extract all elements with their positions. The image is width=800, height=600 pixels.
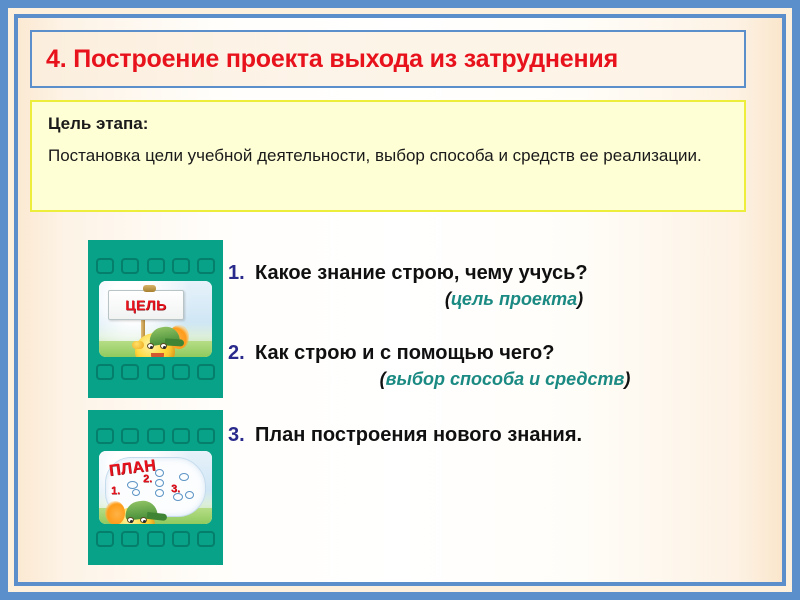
title-box: 4. Построение проекта выхода из затрудне…	[30, 30, 746, 88]
goal-illustration: ЦЕЛЬ	[99, 281, 212, 357]
filmstrip-sprockets-bottom	[96, 529, 215, 549]
list-item-subtext-emphasis: цель проекта	[451, 289, 577, 309]
sprocket-hole-icon	[172, 364, 190, 380]
question-list: 1. Какое знание строю, чему учусь? (цель…	[228, 262, 738, 451]
sprocket-hole-icon	[121, 364, 139, 380]
plan-illustration: ПЛАН 1. 2. 3.	[99, 451, 212, 524]
sprocket-hole-icon	[96, 364, 114, 380]
paren-close: )	[624, 369, 630, 389]
sprocket-hole-icon	[197, 258, 215, 274]
list-spacer	[228, 394, 738, 424]
sprocket-hole-icon	[147, 258, 165, 274]
sprocket-hole-icon	[172, 531, 190, 547]
goal-sign: ЦЕЛЬ	[108, 290, 184, 320]
plan-filmstrip-card: ПЛАН 1. 2. 3.	[88, 410, 223, 565]
character-cap-brim	[165, 338, 184, 346]
sprocket-hole-icon	[96, 428, 114, 444]
character-eyes	[147, 343, 167, 349]
goal-filmstrip-card: ЦЕЛЬ	[88, 240, 223, 398]
sprocket-hole-icon	[96, 531, 114, 547]
list-item-text: Какое знание строю, чему учусь?	[255, 262, 588, 285]
sprocket-hole-icon	[197, 364, 215, 380]
sprocket-hole-icon	[147, 531, 165, 547]
list-item-subtext: (цель проекта)	[230, 289, 738, 310]
sprocket-hole-icon	[121, 428, 139, 444]
paren-close: )	[577, 289, 583, 309]
page-title: 4. Построение проекта выхода из затрудне…	[32, 45, 618, 74]
goal-sign-label: ЦЕЛЬ	[125, 297, 166, 313]
plan-doodle-icon	[155, 489, 164, 497]
list-item-text: План построения нового знания.	[255, 424, 582, 447]
list-item: 1. Какое знание строю, чему учусь? (цель…	[228, 262, 738, 310]
list-item: 2. Как строю и с помощью чего? (выбор сп…	[228, 342, 738, 390]
sprocket-hole-icon	[147, 364, 165, 380]
sprocket-hole-icon	[172, 428, 190, 444]
sprocket-hole-icon	[172, 258, 190, 274]
list-spacer	[228, 314, 738, 342]
list-item-number: 1.	[228, 262, 255, 285]
signpost-knob	[143, 285, 156, 292]
list-item-subtext-emphasis: выбор способа и средств	[386, 369, 625, 389]
slide-content: 4. Построение проекта выхода из затрудне…	[18, 18, 782, 582]
plan-doodle-icon	[155, 479, 164, 487]
list-item-text: Как строю и с помощью чего?	[255, 342, 554, 365]
sprocket-hole-icon	[147, 428, 165, 444]
character-hair	[105, 501, 125, 524]
list-item-subtext: (выбор способа и средств)	[230, 369, 738, 390]
filmstrip-sprockets-bottom	[96, 362, 215, 382]
plan-doodle-icon	[132, 489, 140, 496]
goal-callout-box: Цель этапа: Постановка цели учебной деят…	[30, 100, 746, 212]
list-item-number: 2.	[228, 342, 255, 365]
plan-doodle-icon	[155, 469, 164, 477]
plan-step-number: 2.	[143, 473, 152, 485]
sprocket-hole-icon	[197, 428, 215, 444]
plan-doodle-icon	[185, 491, 194, 499]
plan-step-number: 1.	[111, 485, 120, 497]
list-item: 3. План построения нового знания.	[228, 424, 738, 447]
character-mouth	[151, 353, 164, 357]
list-item-number: 3.	[228, 424, 255, 447]
plan-doodle-icon	[127, 481, 138, 489]
sprocket-hole-icon	[197, 531, 215, 547]
filmstrip-sprockets-top	[96, 426, 215, 446]
goal-label: Цель этапа:	[48, 114, 728, 134]
character-arm	[132, 341, 144, 349]
sprocket-hole-icon	[121, 258, 139, 274]
plan-doodle-icon	[173, 493, 183, 501]
plan-doodle-icon	[179, 473, 189, 481]
sprocket-hole-icon	[121, 531, 139, 547]
filmstrip-sprockets-top	[96, 256, 215, 276]
goal-body-text: Постановка цели учебной деятельности, вы…	[48, 145, 708, 168]
slide: 4. Построение проекта выхода из затрудне…	[0, 0, 800, 600]
sprocket-hole-icon	[96, 258, 114, 274]
character-eyes	[127, 517, 147, 523]
